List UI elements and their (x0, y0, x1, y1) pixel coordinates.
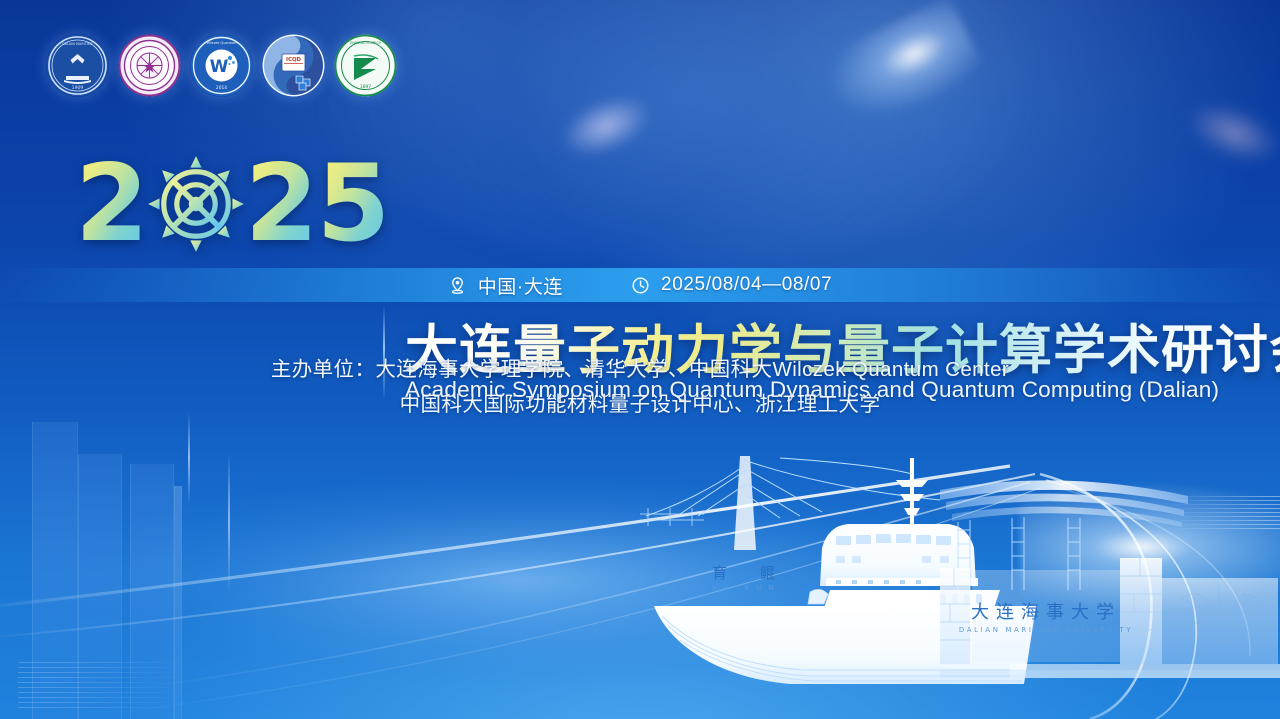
logo-wilczek-quantum-center: W 2014 Wilczek Quantum (190, 34, 253, 97)
svg-text:大连海事大学: 大连海事大学 (971, 602, 1121, 623)
conference-poster: 1909 DALIAN MARITIME (0, 0, 1280, 719)
background-vertical-line-2 (228, 452, 230, 594)
location-pin-icon (448, 276, 467, 295)
location-text: 中国·大连 (478, 272, 563, 299)
logo-icqd-center: ICQD (262, 34, 325, 97)
svg-text:Wilczek Quantum: Wilczek Quantum (207, 41, 237, 45)
ships-wheel-icon (144, 152, 248, 256)
clock-icon (631, 276, 650, 295)
svg-text:DALIAN MARITIME: DALIAN MARITIME (62, 42, 92, 46)
logo-zhejiang-sci-tech-university: 1897 ZHEJIANG SCI-TECH (334, 34, 397, 97)
poster-headline: 2 (0, 148, 1280, 272)
svg-text:YU KUN: YU KUN (711, 584, 780, 592)
location-info: 中国·大连 (448, 272, 563, 299)
svg-text:ICQD: ICQD (286, 57, 302, 63)
svg-text:1909: 1909 (72, 85, 84, 91)
background-vertical-line-1 (188, 412, 190, 504)
svg-text:W: W (210, 57, 229, 77)
logo-dalian-maritime-university: 1909 DALIAN MARITIME (46, 34, 109, 97)
logo-tsinghua-university (118, 34, 181, 97)
organizers-line-2: 中国科大国际功能材料量子设计中心、浙江理工大学 (0, 387, 1280, 422)
svg-text:DALIAN MARITIME UNIVERSITY: DALIAN MARITIME UNIVERSITY (959, 626, 1133, 634)
year-digit-3: 2 (245, 151, 317, 257)
organizers-line-1: 主办单位：大连海事大学理学院、清华大学、中国科大Wilczek Quantum … (0, 352, 1280, 387)
organizers-block: 主办单位：大连海事大学理学院、清华大学、中国科大Wilczek Quantum … (0, 352, 1280, 422)
svg-text:2014: 2014 (216, 85, 227, 91)
year-digit-4: 5 (317, 151, 389, 257)
info-band: 中国·大连 2025/08/04—08/07 (0, 268, 1280, 302)
svg-text:1897: 1897 (360, 84, 371, 90)
background-stripes-left (18, 662, 228, 708)
illustration-scene: 育 鲲 YU KUN (640, 440, 1280, 719)
svg-text:育 鲲: 育 鲲 (712, 564, 789, 582)
year-2025: 2 (75, 148, 388, 260)
ship-name: 育 鲲 YU KUN (711, 564, 789, 592)
organizer-logo-row: 1909 DALIAN MARITIME (46, 34, 397, 97)
date-info: 2025/08/04—08/07 (631, 274, 832, 296)
ship-and-gate-illustration: 育 鲲 YU KUN (640, 440, 1280, 719)
svg-text:ZHEJIANG SCI-TECH: ZHEJIANG SCI-TECH (350, 41, 382, 45)
year-digit-1: 2 (75, 151, 147, 257)
date-text: 2025/08/04—08/07 (661, 274, 832, 296)
